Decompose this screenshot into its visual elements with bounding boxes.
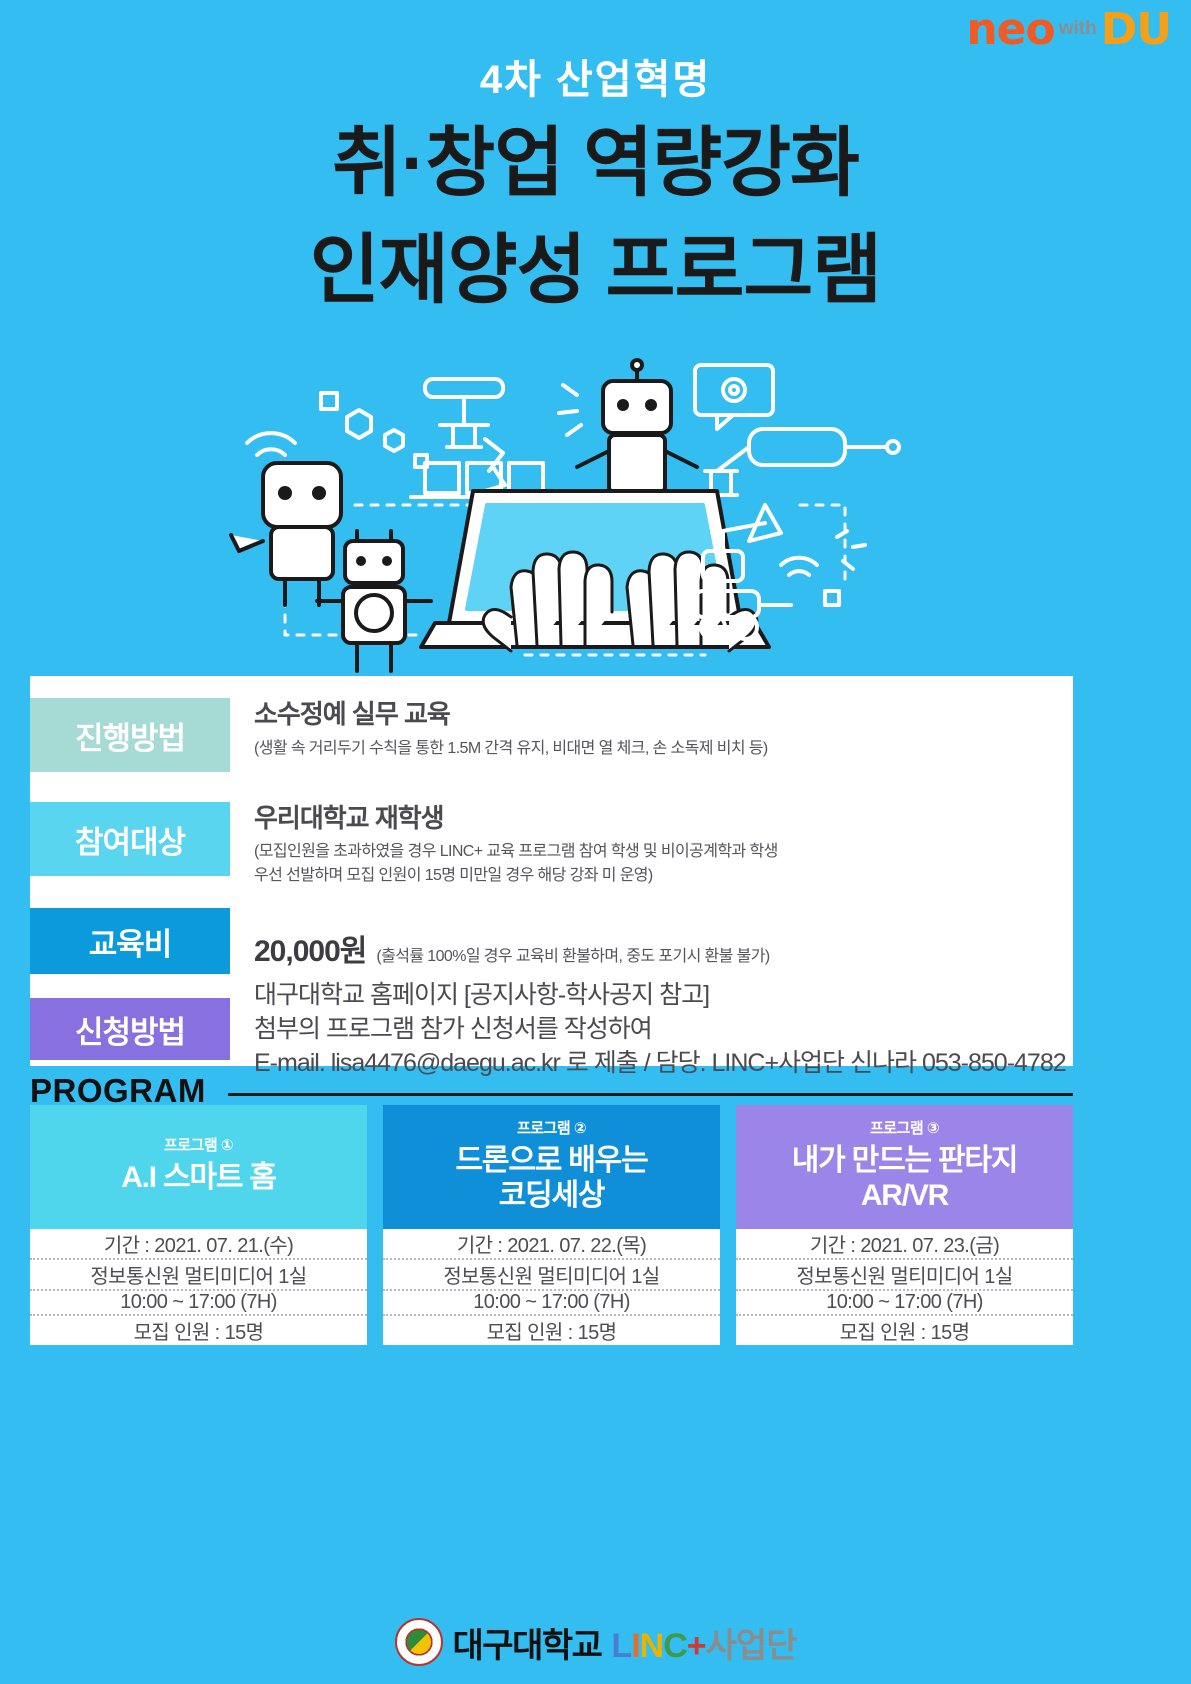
- method-detail-1: (생활 속 거리두기 수칙을 통한 1.5M 간격 유지, 비대면 열 체크, …: [254, 737, 768, 762]
- program-card-date: 기간 : 2021. 07. 22.(목): [383, 1229, 720, 1260]
- fee-note: (출석률 100%일 경우 교육비 환불하며, 중도 포기시 환불 불가): [376, 945, 769, 970]
- title-eyebrow: 4차 산업혁명: [0, 58, 1191, 102]
- program-card-body: 기간 : 2021. 07. 21.(수) 정보통신원 멀티미디어 1실 10:…: [30, 1229, 367, 1345]
- program-card-title: A.I 스마트 홈: [121, 1160, 276, 1195]
- program-card-body: 기간 : 2021. 07. 23.(금) 정보통신원 멀티미디어 1실 10:…: [736, 1229, 1073, 1345]
- program-card[interactable]: 프로그램 ① A.I 스마트 홈 기간 : 2021. 07. 21.(수) 정…: [30, 1105, 367, 1345]
- info-row-apply: 신청방법 대구대학교 홈페이지 [공지사항-학사공지 참고] 첨부의 프로그램 …: [30, 998, 1066, 1080]
- program-card-list: 프로그램 ① A.I 스마트 홈 기간 : 2021. 07. 21.(수) 정…: [30, 1105, 1073, 1345]
- seal-inner-mark: [407, 1630, 431, 1654]
- program-card-quota: 모집 인원 : 15명: [383, 1316, 720, 1345]
- info-row-method: 진행방법 소수정예 실무 교육 (생활 속 거리두기 수칙을 통한 1.5M 간…: [30, 698, 768, 772]
- linc-letter-l: L: [611, 1627, 631, 1665]
- program-card-kicker: 프로그램 ②: [517, 1117, 586, 1138]
- program-card[interactable]: 프로그램 ② 드론으로 배우는 코딩세상 기간 : 2021. 07. 22.(…: [383, 1105, 720, 1345]
- linc-letter-c: C: [663, 1627, 687, 1665]
- program-card-time: 10:00 ~ 17:00 (7H): [736, 1291, 1073, 1316]
- program-heading-rule: [228, 1093, 1073, 1096]
- program-card-kicker: 프로그램 ①: [164, 1134, 233, 1155]
- fee-amount: 20,000원: [254, 926, 366, 970]
- brand-neo-text: neo: [966, 8, 1054, 52]
- linc-suffix-text: 사업단: [706, 1627, 797, 1665]
- brand-with-text: with: [1059, 19, 1097, 38]
- program-card-title: 내가 만드는 판타지 AR/VR: [792, 1143, 1017, 1214]
- target-detail-1: (모집인원을 초과하였을 경우 LINC+ 교육 프로그램 참여 학생 및 비이…: [254, 840, 778, 865]
- info-body-method: 소수정예 실무 교육 (생활 속 거리두기 수칙을 통한 1.5M 간격 유지,…: [230, 698, 768, 772]
- program-card-header: 프로그램 ② 드론으로 배우는 코딩세상: [383, 1105, 720, 1229]
- footer-university-name: 대구대학교: [453, 1618, 602, 1667]
- program-card-date: 기간 : 2021. 07. 23.(금): [736, 1229, 1073, 1260]
- program-card-header: 프로그램 ③ 내가 만드는 판타지 AR/VR: [736, 1105, 1073, 1229]
- program-card-time: 10:00 ~ 17:00 (7H): [30, 1291, 367, 1316]
- title-line-2: 인재양성 프로그램: [0, 223, 1191, 318]
- apply-line-2: 첨부의 프로그램 참가 신청서를 작성하여: [254, 1012, 1066, 1046]
- program-card-place: 정보통신원 멀티미디어 1실: [30, 1260, 367, 1291]
- linc-plus-logo: LINC+사업단: [611, 1618, 796, 1667]
- footer-logo-bar: 대구대학교 LINC+사업단: [0, 1600, 1191, 1684]
- program-card-place: 정보통신원 멀티미디어 1실: [736, 1260, 1073, 1291]
- info-body-fee: 20,000원 (출석률 100%일 경우 교육비 환불하며, 중도 포기시 환…: [230, 908, 770, 974]
- program-card-body: 기간 : 2021. 07. 22.(목) 정보통신원 멀티미디어 1실 10:…: [383, 1229, 720, 1345]
- program-card-quota: 모집 인원 : 15명: [30, 1316, 367, 1345]
- info-row-fee: 교육비 20,000원 (출석률 100%일 경우 교육비 환불하며, 중도 포…: [30, 908, 770, 974]
- poster-root: neo with DU 4차 산업혁명 취·창업 역량강화 인재양성 프로그램: [0, 0, 1191, 1684]
- brand-du-text: DU: [1101, 8, 1171, 52]
- program-card-place: 정보통신원 멀티미디어 1실: [383, 1260, 720, 1291]
- linc-letter-plus: +: [687, 1627, 706, 1665]
- program-card-header: 프로그램 ① A.I 스마트 홈: [30, 1105, 367, 1229]
- info-tag-apply: 신청방법: [30, 998, 230, 1060]
- robotics-illustration: [225, 355, 965, 685]
- info-tag-fee: 교육비: [30, 908, 230, 974]
- program-card[interactable]: 프로그램 ③ 내가 만드는 판타지 AR/VR 기간 : 2021. 07. 2…: [736, 1105, 1073, 1345]
- brand-logo: neo with DU: [966, 8, 1171, 52]
- info-tag-method: 진행방법: [30, 698, 230, 772]
- program-card-kicker: 프로그램 ③: [870, 1117, 939, 1138]
- target-detail-2: 우선 선발하며 모집 인원이 15명 미만일 경우 해당 강좌 미 운영): [254, 864, 778, 889]
- target-headline: 우리대학교 재학생: [254, 802, 778, 835]
- poster-title-block: 4차 산업혁명 취·창업 역량강화 인재양성 프로그램: [0, 58, 1191, 318]
- method-headline: 소수정예 실무 교육: [254, 698, 768, 731]
- info-body-target: 우리대학교 재학생 (모집인원을 초과하였을 경우 LINC+ 교육 프로그램 …: [230, 802, 778, 889]
- linc-letter-n: N: [640, 1627, 664, 1665]
- title-line-1: 취·창업 역량강화: [0, 116, 1191, 211]
- program-card-date: 기간 : 2021. 07. 21.(수): [30, 1229, 367, 1260]
- daegu-university-seal-icon: [395, 1618, 443, 1666]
- linc-letter-i: I: [631, 1627, 639, 1665]
- info-body-apply: 대구대학교 홈페이지 [공지사항-학사공지 참고] 첨부의 프로그램 참가 신청…: [230, 978, 1066, 1080]
- program-card-quota: 모집 인원 : 15명: [736, 1316, 1073, 1345]
- info-tag-target: 참여대상: [30, 802, 230, 876]
- info-panel: 진행방법 소수정예 실무 교육 (생활 속 거리두기 수칙을 통한 1.5M 간…: [30, 676, 1073, 1066]
- program-card-time: 10:00 ~ 17:00 (7H): [383, 1291, 720, 1316]
- program-card-title: 드론으로 배우는 코딩세상: [456, 1143, 648, 1214]
- info-row-target: 참여대상 우리대학교 재학생 (모집인원을 초과하였을 경우 LINC+ 교육 …: [30, 802, 778, 889]
- apply-line-1: 대구대학교 홈페이지 [공지사항-학사공지 참고]: [254, 978, 1066, 1012]
